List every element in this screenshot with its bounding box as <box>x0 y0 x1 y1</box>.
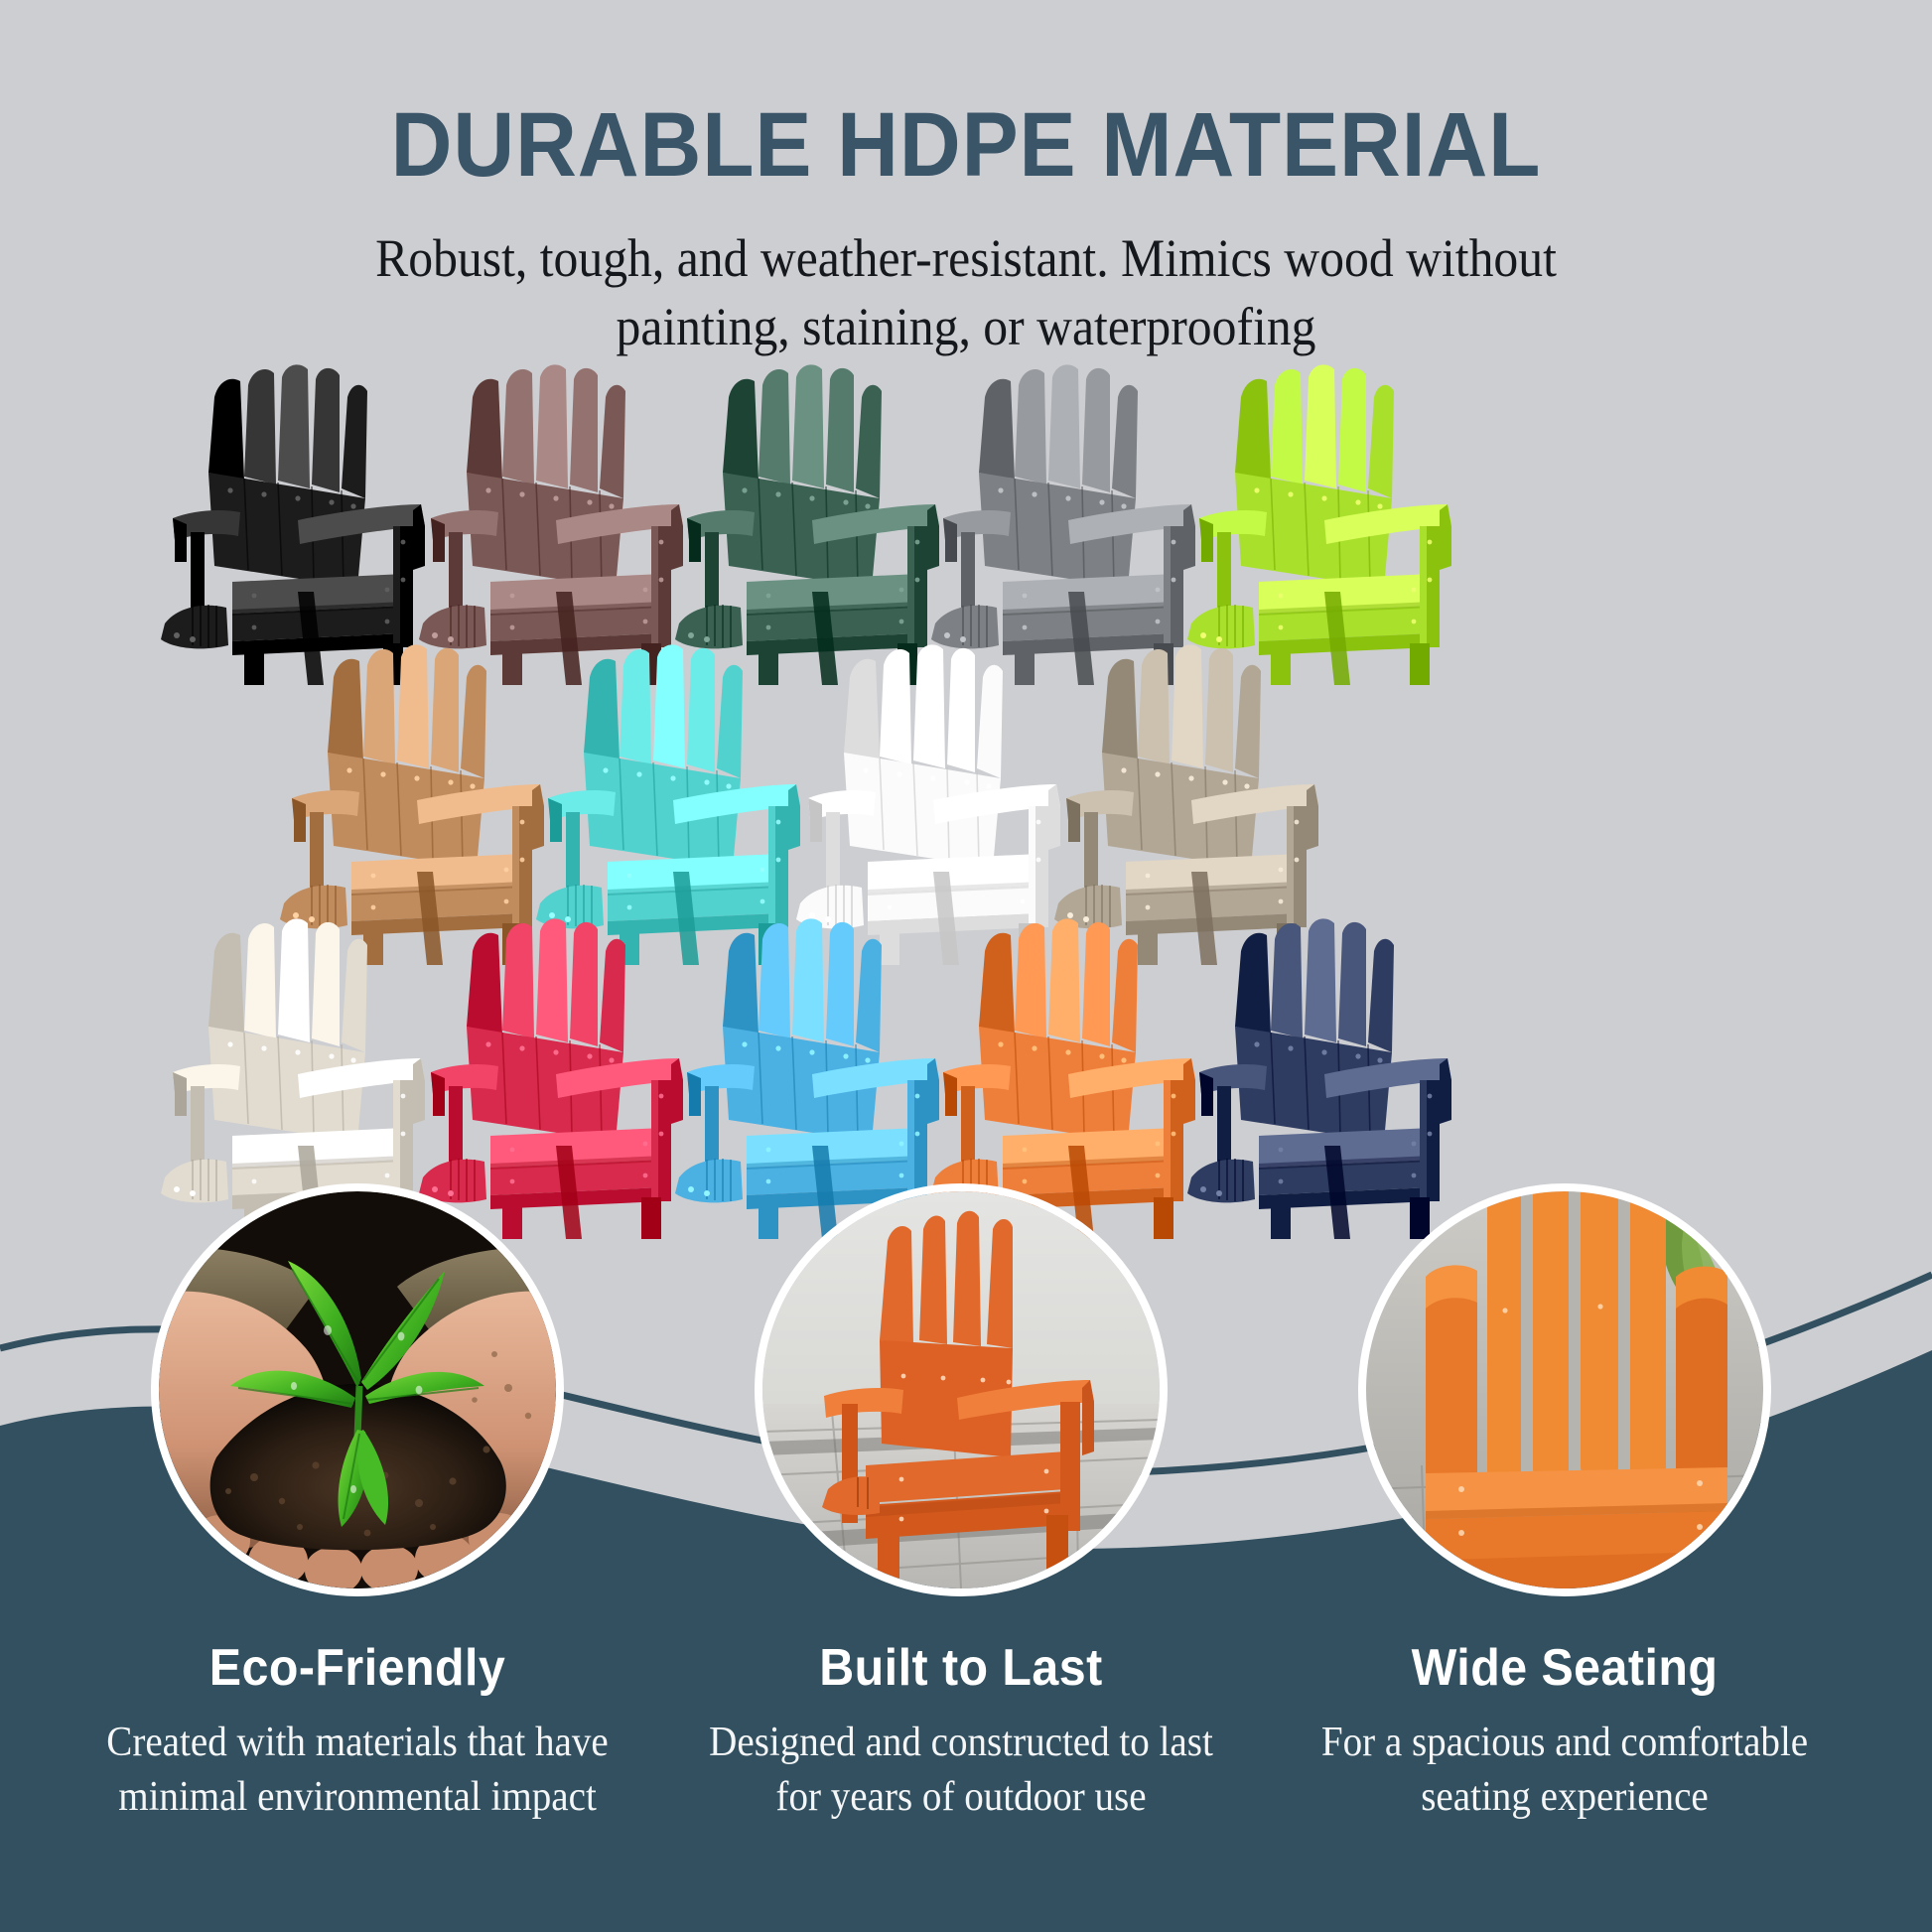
header: DURABLE HDPE MATERIAL Robust, tough, and… <box>0 0 1932 361</box>
seedling-in-hands-icon <box>159 1191 556 1588</box>
page-title: DURABLE HDPE MATERIAL <box>68 0 1864 191</box>
chair-swatch-forest-green[interactable] <box>663 357 961 685</box>
chair-swatch-navy-blue[interactable] <box>1175 911 1473 1239</box>
chair-swatch-red[interactable] <box>407 911 705 1239</box>
feature-description: Created with materials that have minimal… <box>99 1716 617 1826</box>
wide-seating-photo <box>1366 1191 1763 1588</box>
feature-description: For a spacious and comfortable seating e… <box>1307 1716 1824 1826</box>
chair-swatch-black[interactable] <box>149 357 447 685</box>
feature-image-built-to-last <box>755 1183 1168 1596</box>
feature-title: Built to Last <box>703 1638 1220 1698</box>
infographic-page: DURABLE HDPE MATERIAL Robust, tough, and… <box>0 0 1932 1932</box>
adirondack-chair-icon <box>407 357 705 685</box>
eco-friendly-photo <box>159 1191 556 1588</box>
chair-swatch-gray[interactable] <box>919 357 1217 685</box>
adirondack-chair-icon <box>919 357 1217 685</box>
adirondack-chair-icon <box>663 357 961 685</box>
orange-chair-wide-seat-icon <box>1366 1191 1763 1588</box>
built-to-last-photo <box>762 1191 1160 1588</box>
adirondack-chair-icon <box>1175 357 1473 685</box>
adirondack-chair-icon <box>407 911 705 1239</box>
orange-chair-patio-icon <box>762 1191 1160 1588</box>
adirondack-chair-icon <box>1175 911 1473 1239</box>
feature-wide-seating: Wide Seating For a spacious and comforta… <box>1287 1638 1843 1826</box>
chair-swatch-dark-brown[interactable] <box>407 357 705 685</box>
feature-built-to-last: Built to Last Designed and constructed t… <box>683 1638 1239 1826</box>
feature-image-eco-friendly <box>151 1183 564 1596</box>
feature-image-wide-seating <box>1358 1183 1771 1596</box>
feature-title: Eco-Friendly <box>99 1638 617 1698</box>
feature-description: Designed and constructed to last for yea… <box>703 1716 1220 1826</box>
page-subtitle: Robust, tough, and weather-resistant. Mi… <box>363 191 1569 361</box>
feature-title: Wide Seating <box>1307 1638 1824 1698</box>
adirondack-chair-icon <box>149 357 447 685</box>
feature-eco-friendly: Eco-Friendly Created with materials that… <box>79 1638 635 1826</box>
chair-swatch-lime-green[interactable] <box>1175 357 1473 685</box>
